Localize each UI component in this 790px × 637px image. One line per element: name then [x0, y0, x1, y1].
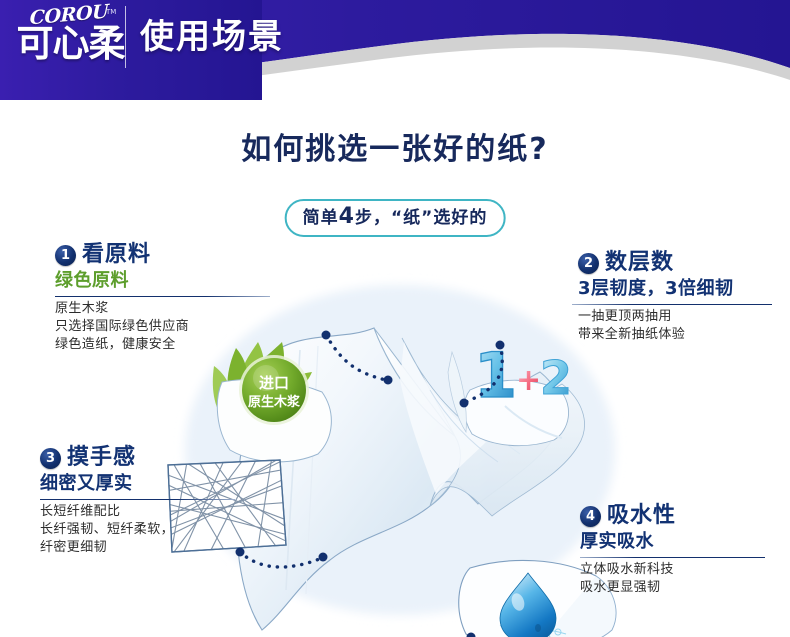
page-header: COROU TM 可心柔 使用场景 — [0, 0, 790, 100]
layers-plus-icon: + — [516, 363, 541, 398]
feature-3-number-badge: 3 — [40, 448, 61, 469]
leaf-badge-line1: 进口 — [259, 374, 289, 392]
header-title: 使用场景 — [140, 17, 284, 57]
promo-page: COROU TM 可心柔 使用场景 如何挑选一张好的纸? 简单4步，“纸”选好的 — [0, 0, 790, 637]
header-divider — [125, 6, 126, 68]
feature-2-number-badge: 2 — [578, 253, 599, 274]
feature-2-heading: 2 数层数 — [578, 250, 783, 276]
subtitle-pill: 简单4步，“纸”选好的 — [285, 199, 506, 237]
feature-1-body: 原生木浆 只选择国际绿色供应商 绿色造纸，健康安全 — [55, 300, 270, 354]
pill-prefix: 简单 — [303, 208, 339, 228]
feature-2-subtitle: 3层韧度，3倍细韧 — [578, 277, 783, 301]
layers-digit-two: 2 — [540, 351, 572, 405]
feature-4-subtitle: 厚实吸水 — [580, 530, 780, 554]
feature-3-divider — [40, 499, 235, 500]
feature-3-heading: 3 摸手感 — [40, 445, 240, 471]
brand-logo: COROU TM 可心柔 — [8, 4, 128, 66]
brand-logo-chinese: 可心柔 — [8, 22, 133, 66]
feature-1-number-badge: 1 — [55, 245, 76, 266]
feature-2-body: 一抽更顶两抽用 带来全新抽纸体验 — [578, 308, 783, 344]
feature-3-subtitle: 细密又厚实 — [40, 472, 240, 496]
feature-4-title: 吸水性 — [607, 503, 676, 529]
pill-suffix: 步，“纸”选好的 — [355, 208, 487, 228]
feature-1-subtitle: 绿色原料 — [55, 269, 270, 293]
feature-section-3: 3 摸手感 细密又厚实 长短纤维配比 长纤强韧、短纤柔软， 纤密更细韧 — [40, 445, 240, 557]
leaf-badge-line2: 原生木浆 — [248, 394, 301, 410]
layers-digit-one: 1 — [474, 339, 517, 412]
feature-4-number-badge: 4 — [580, 506, 601, 527]
feature-3-body: 长短纤维配比 长纤强韧、短纤柔软， 纤密更细韧 — [40, 503, 240, 557]
pill-number: 4 — [339, 204, 355, 229]
feature-1-heading: 1 看原料 — [55, 242, 270, 268]
feature-1-title: 看原料 — [82, 242, 151, 268]
feature-3-title: 摸手感 — [67, 445, 136, 471]
feature-4-divider — [580, 557, 765, 558]
feature-2-divider — [572, 304, 772, 305]
feature-2-title: 数层数 — [605, 250, 674, 276]
feature-section-1: 1 看原料 绿色原料 原生木浆 只选择国际绿色供应商 绿色造纸，健康安全 — [55, 242, 270, 354]
feature-1-divider — [55, 296, 270, 297]
feature-section-2: 2 数层数 3层韧度，3倍细韧 一抽更顶两抽用 带来全新抽纸体验 — [578, 250, 783, 344]
trademark-icon: TM — [106, 8, 116, 16]
feature-4-heading: 4 吸水性 — [580, 503, 780, 529]
feature-4-body: 立体吸水新科技 吸水更显强韧 — [580, 561, 780, 597]
feature-section-4: 4 吸水性 厚实吸水 立体吸水新科技 吸水更显强韧 — [580, 503, 780, 597]
